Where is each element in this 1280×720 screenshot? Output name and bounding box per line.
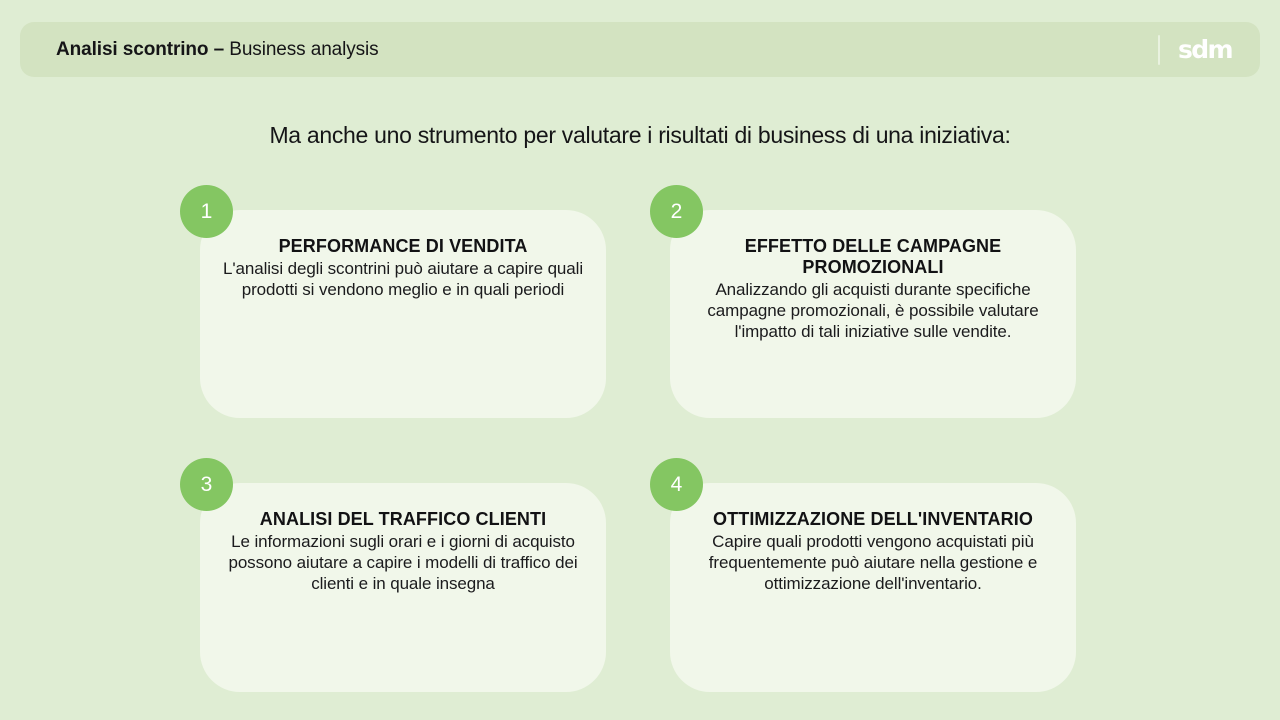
card-body-2: Analizzando gli acquisti durante specifi… <box>692 279 1054 342</box>
card-body-3: Le informazioni sugli orari e i giorni d… <box>222 531 584 594</box>
card-badge-2: 2 <box>650 185 703 238</box>
card-item-4: 4 OTTIMIZZAZIONE DELL'INVENTARIO Capire … <box>650 458 1090 693</box>
card-title-4: OTTIMIZZAZIONE DELL'INVENTARIO <box>713 509 1033 530</box>
card-panel-1: PERFORMANCE DI VENDITA L'analisi degli s… <box>200 210 606 418</box>
header-bar: Analisi scontrino – Business analysis sd… <box>20 22 1260 77</box>
card-body-1: L'analisi degli scontrini può aiutare a … <box>222 258 584 300</box>
card-panel-2: EFFETTO DELLE CAMPAGNE PROMOZIONALI Anal… <box>670 210 1076 418</box>
card-panel-4: OTTIMIZZAZIONE DELL'INVENTARIO Capire qu… <box>670 483 1076 692</box>
card-title-2: EFFETTO DELLE CAMPAGNE PROMOZIONALI <box>692 236 1054 278</box>
page-title-strong: Analisi scontrino – <box>56 39 229 60</box>
card-item-3: 3 ANALISI DEL TRAFFICO CLIENTI Le inform… <box>180 458 620 693</box>
page-title-light: Business analysis <box>229 39 378 60</box>
card-badge-1: 1 <box>180 185 233 238</box>
card-item-2: 2 EFFETTO DELLE CAMPAGNE PROMOZIONALI An… <box>650 185 1090 420</box>
card-title-1: PERFORMANCE DI VENDITA <box>279 236 528 257</box>
card-item-1: 1 PERFORMANCE DI VENDITA L'analisi degli… <box>180 185 620 420</box>
page-title: Analisi scontrino – Business analysis <box>56 39 379 61</box>
header-brand-group: sdm <box>1158 35 1232 65</box>
card-badge-4: 4 <box>650 458 703 511</box>
card-title-3: ANALISI DEL TRAFFICO CLIENTI <box>260 509 546 530</box>
card-body-4: Capire quali prodotti vengono acquistati… <box>692 531 1054 594</box>
vertical-divider-icon <box>1158 35 1160 65</box>
card-panel-3: ANALISI DEL TRAFFICO CLIENTI Le informaz… <box>200 483 606 692</box>
sdm-logo: sdm <box>1178 37 1232 62</box>
subtitle: Ma anche uno strumento per valutare i ri… <box>0 122 1280 149</box>
card-grid: 1 PERFORMANCE DI VENDITA L'analisi degli… <box>0 180 1280 710</box>
card-badge-3: 3 <box>180 458 233 511</box>
